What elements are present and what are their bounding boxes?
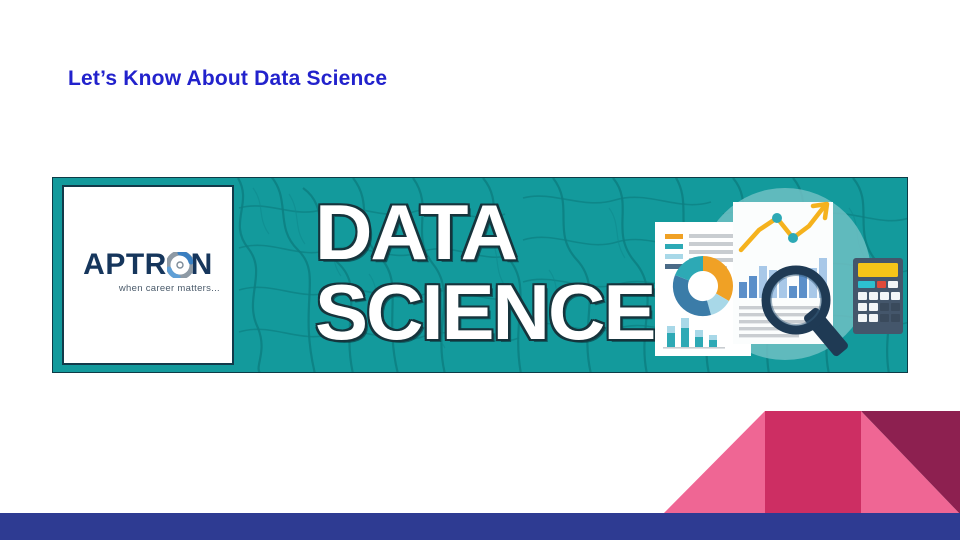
data-analytics-illustration [637,178,907,373]
aptron-wordmark: APTRON [72,249,224,281]
pink-center-block [765,411,861,514]
banner-headline: DATA SCIENCE [315,192,652,362]
maroon-right-triangle [861,411,960,514]
page-title: Let’s Know About Data Science [68,67,387,91]
swirl-circle-icon [167,252,193,278]
aptron-logo-plate: APTRON when career matters... [62,185,234,365]
data-science-banner: APTRON when career matters... DATA SCIEN… [52,177,908,373]
calculator-icon [853,258,903,334]
aptron-name-part2: N [191,248,213,281]
slide-canvas: Let’s Know About Data Science [0,0,960,540]
aptron-name-part1: APTR [83,248,167,281]
aptron-tagline: when career matters... [72,283,224,294]
aptron-logo: APTRON when career matters... [72,249,224,301]
bottom-blue-bar [0,513,960,540]
pink-right-slope [861,411,960,514]
pink-left-slope [663,411,765,514]
headline-line-1: DATA [315,192,652,272]
headline-line-2: SCIENCE [315,272,652,352]
